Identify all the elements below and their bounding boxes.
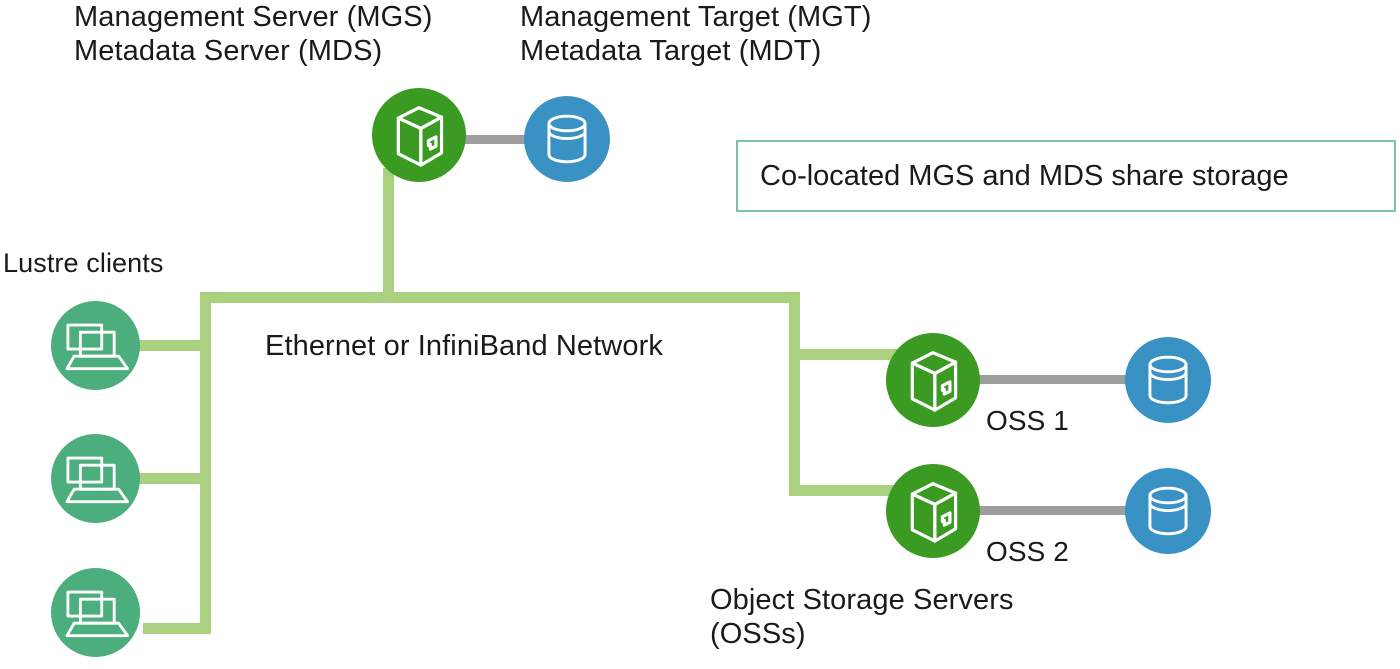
database-cylinder-icon bbox=[1125, 468, 1211, 554]
network-backbone-bottom bbox=[143, 623, 211, 634]
wire-client2 bbox=[137, 473, 211, 484]
wire-client1 bbox=[137, 340, 211, 351]
server-box-icon bbox=[372, 88, 466, 182]
wire-oss2 bbox=[789, 485, 899, 496]
label-lustre-clients: Lustre clients bbox=[3, 248, 163, 280]
database-cylinder-icon bbox=[524, 96, 610, 182]
callout-text: Co-located MGS and MDS share storage bbox=[760, 160, 1289, 193]
storage-link-oss2-ost2 bbox=[975, 506, 1130, 515]
wire-oss1 bbox=[789, 349, 899, 360]
network-backbone-top bbox=[200, 292, 800, 303]
laptop-icon bbox=[51, 434, 140, 523]
node-ost-1-target[interactable] bbox=[1125, 337, 1211, 423]
node-client-1[interactable] bbox=[51, 301, 140, 390]
node-mgs-mds-server[interactable] bbox=[372, 88, 466, 182]
node-ost-2-target[interactable] bbox=[1125, 468, 1211, 554]
storage-link-oss1-ost1 bbox=[975, 375, 1130, 384]
storage-link-mgs-mgt bbox=[462, 135, 530, 144]
label-network: Ethernet or InfiniBand Network bbox=[265, 329, 663, 363]
database-cylinder-icon bbox=[1125, 337, 1211, 423]
label-mgs-mds: Management Server (MGS) Metadata Server … bbox=[74, 0, 432, 68]
node-oss-2-server[interactable] bbox=[886, 464, 980, 558]
label-oss-group: Object Storage Servers (OSSs) bbox=[710, 583, 1014, 651]
laptop-icon bbox=[51, 301, 140, 390]
server-box-icon bbox=[886, 333, 980, 427]
laptop-icon bbox=[51, 568, 140, 657]
label-oss1: OSS 1 bbox=[986, 404, 1069, 437]
server-box-icon bbox=[886, 464, 980, 558]
node-client-2[interactable] bbox=[51, 434, 140, 523]
wire-mgs-to-backbone bbox=[383, 168, 394, 300]
node-oss-1-server[interactable] bbox=[886, 333, 980, 427]
label-mgt-mdt: Management Target (MGT) Metadata Target … bbox=[520, 0, 872, 68]
label-oss2: OSS 2 bbox=[986, 535, 1069, 568]
node-client-3[interactable] bbox=[51, 568, 140, 657]
callout-colocated-storage: Co-located MGS and MDS share storage bbox=[736, 140, 1396, 212]
network-backbone-right bbox=[789, 292, 800, 496]
network-wires bbox=[0, 0, 1400, 669]
diagram-canvas: Management Server (MGS) Metadata Server … bbox=[0, 0, 1400, 669]
node-mgt-mdt-target[interactable] bbox=[524, 96, 610, 182]
